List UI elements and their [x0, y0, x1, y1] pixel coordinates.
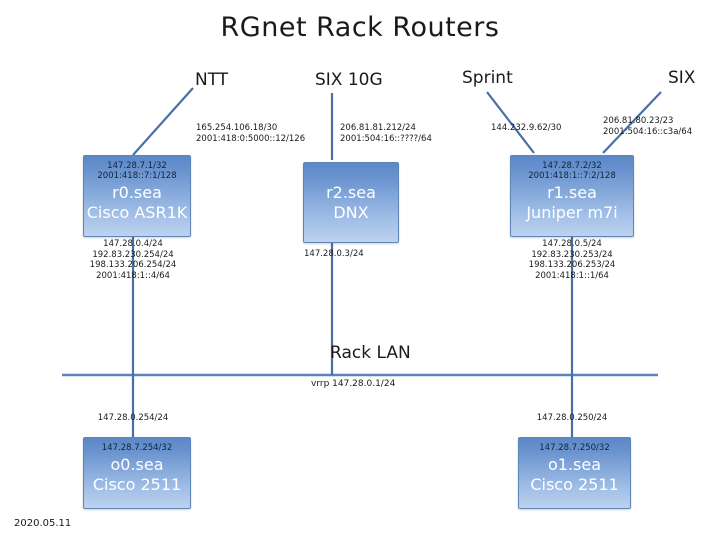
- router-o1-loopback-v4: 147.28.7.250/32: [539, 443, 609, 453]
- page-title: RGnet Rack Routers: [0, 12, 720, 43]
- uplink-addr-six: 206.81.80.23/23 2001:504:16::c3a/64: [603, 116, 692, 137]
- lan-addresses-o1: 147.28.0.250/24: [512, 413, 632, 424]
- router-r0-loopback-v6: 2001:418::7:1/128: [97, 171, 176, 181]
- lan-addr-o0-0: 147.28.0.254/24: [73, 413, 193, 424]
- lan-addr-r0-2: 198.133.206.254/24: [73, 260, 193, 271]
- uplink-addr-ntt: 165.254.106.18/30 2001:418:0:5000::12/12…: [196, 123, 305, 144]
- provider-label-six10g: SIX 10G: [315, 70, 383, 90]
- diagram-canvas: RGnet Rack Routers NTT SIX 10G Sprint SI…: [0, 0, 720, 540]
- lan-addr-r0-1: 192.83.230.254/24: [73, 250, 193, 261]
- router-o1-name: o1.sea: [530, 455, 618, 475]
- uplink-addr-ntt-v4: 165.254.106.18/30: [196, 123, 305, 134]
- provider-label-sprint: Sprint: [462, 68, 513, 88]
- router-node-o1[interactable]: 147.28.7.250/32 o1.sea Cisco 2511: [518, 437, 631, 509]
- uplink-addr-six10g-v6: 2001:504:16::????/64: [340, 134, 432, 145]
- lan-addr-o1-0: 147.28.0.250/24: [512, 413, 632, 424]
- router-r2-name: r2.sea: [326, 183, 376, 203]
- lan-addr-r1-2: 198.133.206.253/24: [512, 260, 632, 271]
- router-o0-loopbacks: 147.28.7.254/32: [102, 443, 172, 453]
- router-r2-model: DNX: [326, 203, 376, 223]
- router-o1-identity: o1.sea Cisco 2511: [530, 455, 618, 495]
- lan-addr-r2-0: 147.28.0.3/24: [304, 249, 364, 260]
- router-r1-identity: r1.sea Juniper m7i: [526, 183, 617, 223]
- router-r1-loopback-v6: 2001:418:1::7:2/128: [528, 171, 616, 181]
- uplink-addr-six10g: 206.81.81.212/24 2001:504:16::????/64: [340, 123, 432, 144]
- provider-label-ntt: NTT: [195, 70, 228, 90]
- router-o1-loopbacks: 147.28.7.250/32: [539, 443, 609, 453]
- router-r0-identity: r0.sea Cisco ASR1K: [87, 183, 188, 223]
- uplink-addr-sprint-v4: 144.232.9.62/30: [491, 123, 561, 134]
- lan-addresses-r0: 147.28.0.4/24 192.83.230.254/24 198.133.…: [73, 239, 193, 281]
- provider-label-six: SIX: [668, 68, 695, 88]
- router-r0-model: Cisco ASR1K: [87, 203, 188, 223]
- uplink-addr-sprint: 144.232.9.62/30: [491, 123, 561, 134]
- lan-addresses-r2: 147.28.0.3/24: [304, 249, 364, 260]
- rack-lan-vrrp: vrrp 147.28.0.1/24: [311, 379, 395, 389]
- uplink-addr-six-v6: 2001:504:16::c3a/64: [603, 127, 692, 138]
- lan-addresses-o0: 147.28.0.254/24: [73, 413, 193, 424]
- router-r1-loopbacks: 147.28.7.2/32 2001:418:1::7:2/128: [528, 161, 616, 181]
- router-r1-name: r1.sea: [526, 183, 617, 203]
- lan-addr-r0-0: 147.28.0.4/24: [73, 239, 193, 250]
- uplink-addr-six10g-v4: 206.81.81.212/24: [340, 123, 432, 134]
- router-node-r0[interactable]: 147.28.7.1/32 2001:418::7:1/128 r0.sea C…: [83, 155, 191, 237]
- router-r1-model: Juniper m7i: [526, 203, 617, 223]
- router-node-r1[interactable]: 147.28.7.2/32 2001:418:1::7:2/128 r1.sea…: [510, 155, 634, 237]
- router-r0-name: r0.sea: [87, 183, 188, 203]
- date-stamp: 2020.05.11: [14, 518, 71, 529]
- lan-addr-r1-1: 192.83.230.253/24: [512, 250, 632, 261]
- router-o0-identity: o0.sea Cisco 2511: [93, 455, 181, 495]
- rack-lan-label: Rack LAN: [330, 343, 411, 363]
- lan-addresses-r1: 147.28.0.5/24 192.83.230.253/24 198.133.…: [512, 239, 632, 281]
- lan-addr-r0-3: 2001:418:1::4/64: [73, 271, 193, 282]
- router-r0-loopbacks: 147.28.7.1/32 2001:418::7:1/128: [97, 161, 176, 181]
- router-r2-identity: r2.sea DNX: [326, 183, 376, 223]
- router-o1-model: Cisco 2511: [530, 475, 618, 495]
- router-node-o0[interactable]: 147.28.7.254/32 o0.sea Cisco 2511: [83, 437, 191, 509]
- uplink-line-ntt: [133, 88, 193, 155]
- uplink-addr-ntt-v6: 2001:418:0:5000::12/126: [196, 134, 305, 145]
- uplink-addr-six-v4: 206.81.80.23/23: [603, 116, 692, 127]
- router-o0-name: o0.sea: [93, 455, 181, 475]
- router-o0-loopback-v4: 147.28.7.254/32: [102, 443, 172, 453]
- lan-addr-r1-3: 2001:418:1::1/64: [512, 271, 632, 282]
- router-r1-loopback-v4: 147.28.7.2/32: [528, 161, 616, 171]
- lan-addr-r1-0: 147.28.0.5/24: [512, 239, 632, 250]
- router-node-r2[interactable]: r2.sea DNX: [303, 162, 399, 243]
- router-o0-model: Cisco 2511: [93, 475, 181, 495]
- router-r0-loopback-v4: 147.28.7.1/32: [97, 161, 176, 171]
